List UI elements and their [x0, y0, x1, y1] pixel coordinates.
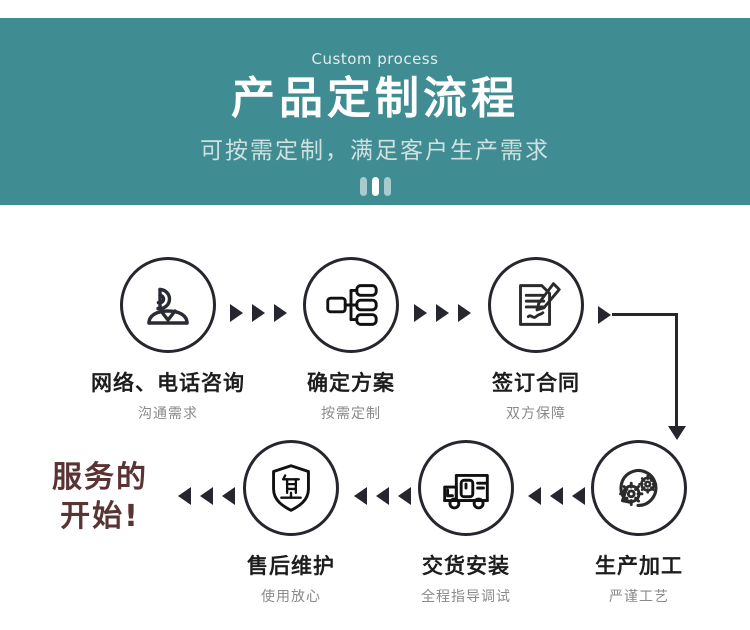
flow-step-subtitle: 按需定制 — [261, 403, 441, 423]
flow-step-title: 确定方案 — [261, 367, 441, 397]
flow-step-subtitle: 使用放心 — [201, 586, 381, 606]
person-headset-icon — [120, 257, 216, 353]
arrow-left-icon — [222, 487, 235, 505]
dot-middle — [372, 177, 379, 196]
delivery-truck-icon — [418, 440, 514, 536]
flow-step-production[interactable]: 生产加工 严谨工艺 — [549, 440, 729, 606]
connector-horizontal-line — [612, 313, 678, 316]
elbow-connector — [598, 300, 690, 450]
banner-subtitle: 可按需定制，满足客户生产需求 — [200, 131, 550, 165]
flow-step-consult[interactable]: 网络、电话咨询 沟通需求 — [78, 257, 258, 423]
flow-step-title: 网络、电话咨询 — [78, 367, 258, 397]
arrow-group-left-1 — [178, 487, 235, 505]
arrow-left-icon — [200, 487, 213, 505]
flow-step-plan[interactable]: 确定方案 按需定制 — [261, 257, 441, 423]
arrow-down-icon — [668, 426, 686, 440]
flow-step-aftersale[interactable]: 售后维护 使用放心 — [201, 440, 381, 606]
service-start-line1: 服务的 — [20, 458, 180, 497]
arrow-left-icon — [572, 487, 585, 505]
banner-dots-decoration — [360, 177, 391, 196]
dot-right — [384, 177, 391, 196]
banner-eyebrow: Custom process — [312, 50, 439, 68]
arrow-right-icon — [414, 304, 427, 322]
arrow-left-icon — [398, 487, 411, 505]
flow-step-title: 生产加工 — [549, 550, 729, 580]
flowchart-icon — [303, 257, 399, 353]
flow-step-subtitle: 沟通需求 — [78, 403, 258, 423]
process-flow-diagram: 网络、电话咨询 沟通需求 确定方案 按需定制 — [0, 205, 750, 630]
flow-step-title: 交货安装 — [376, 550, 556, 580]
arrow-right-icon — [230, 304, 243, 322]
flow-step-subtitle: 全程指导调试 — [376, 586, 556, 606]
page-header-banner: Custom process 产品定制流程 可按需定制，满足客户生产需求 — [0, 18, 750, 205]
page-title: 产品定制流程 — [231, 74, 519, 123]
service-start-label: 服务的 开始! — [20, 458, 180, 536]
flow-step-subtitle: 严谨工艺 — [549, 586, 729, 606]
flow-step-title: 售后维护 — [201, 550, 381, 580]
gears-icon — [591, 440, 687, 536]
dot-left — [360, 177, 367, 196]
shield-sale-icon — [243, 440, 339, 536]
connector-vertical-line — [675, 313, 678, 430]
service-start-line2: 开始! — [20, 497, 180, 536]
flow-step-delivery[interactable]: 交货安装 全程指导调试 — [376, 440, 556, 606]
contract-sign-icon — [488, 257, 584, 353]
arrow-right-icon — [598, 306, 611, 324]
